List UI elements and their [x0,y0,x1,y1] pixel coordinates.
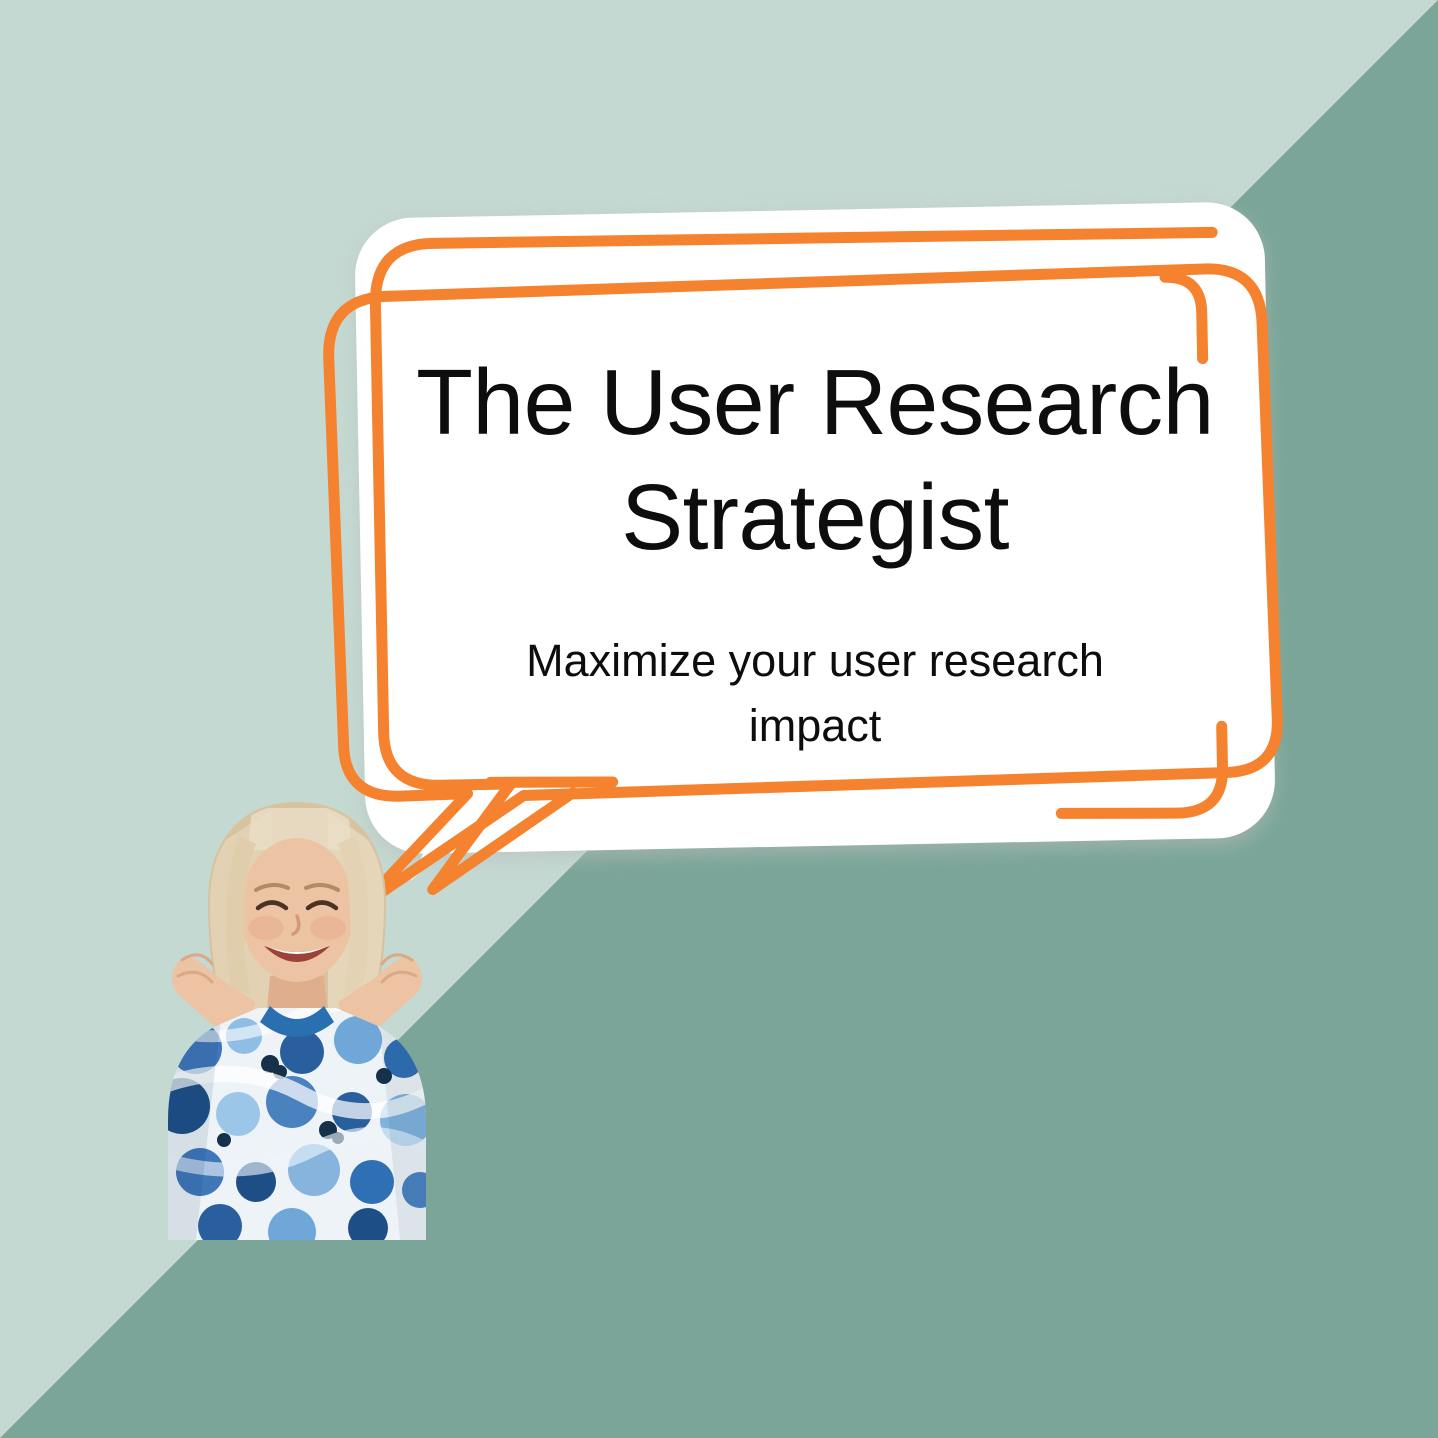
page-subtitle: Maximize your user research impact [476,628,1154,759]
poster-canvas: The User Research Strategist Maximize yo… [0,0,1438,1438]
cheek-left [248,916,284,940]
person-photo [152,790,442,1240]
bubble-text-block: The User Research Strategist Maximize yo… [380,345,1250,758]
cheek-right [310,916,346,940]
page-title: The User Research Strategist [380,345,1250,576]
person-illustration [152,790,442,1240]
inner-outline-bottom-left-hook [491,780,613,784]
